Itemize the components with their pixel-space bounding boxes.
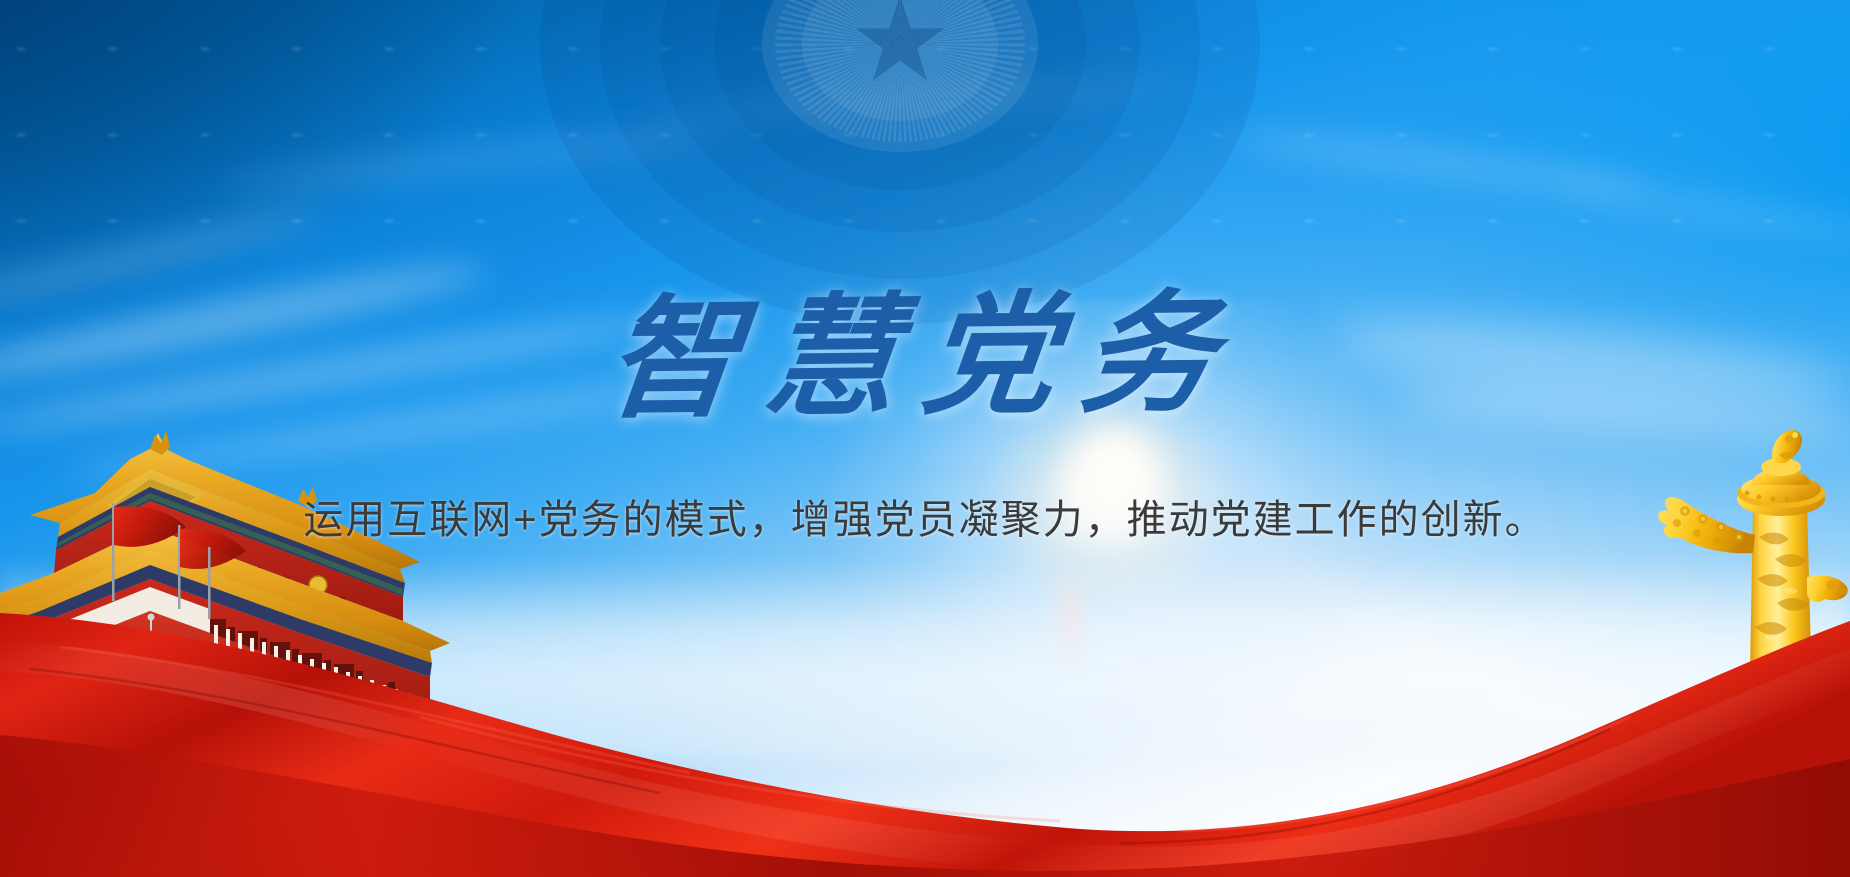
page-subtitle: 运用互联网+党务的模式，增强党员凝聚力，推动党建工作的创新。 — [0, 487, 1850, 545]
party-affairs-banner: 智慧党务 运用互联网+党务的模式，增强党员凝聚力，推动党建工作的创新。 — [0, 0, 1850, 877]
red-silk-ribbon — [0, 577, 1850, 877]
page-title: 智慧党务 — [0, 240, 1850, 450]
